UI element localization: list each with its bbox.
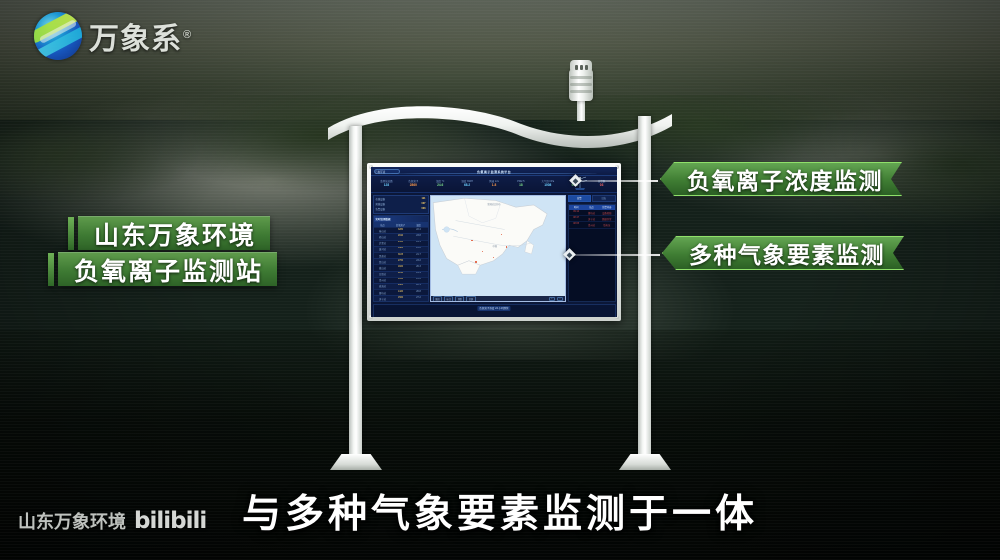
map-tool-measure-button[interactable]: 测距 (455, 296, 464, 303)
support-post-left (349, 126, 362, 456)
metric-value: 68.2 (454, 183, 481, 188)
map-region-label: 中国 (493, 244, 497, 248)
map-tool-annotate-button[interactable]: 标注 (444, 296, 453, 303)
map-title: 全国站点分布 (487, 202, 500, 206)
table-cell: 2760 (392, 259, 410, 264)
metric-card[interactable]: 温度 ℃ 24.6 (427, 180, 454, 188)
map-tool-layers-button[interactable]: 图层 (433, 296, 442, 303)
table-cell: 2980 (392, 284, 410, 289)
map-landmass (431, 196, 565, 283)
table-row[interactable]: 青州站165025.6 (374, 277, 428, 283)
table-body: 泰山站328022.4崂山站291023.8沂蒙站245024.1黄河站1980… (374, 227, 428, 301)
leader-line-1 (580, 180, 658, 182)
callout-left-1: 山东万象环境 (78, 216, 270, 250)
table-cell: 1980 (392, 247, 410, 252)
metric-value: 1008 (534, 183, 561, 188)
brand-logo-text: 万象系® (89, 14, 192, 58)
table-cell: 昆嵛站 (374, 253, 392, 258)
table-header-row: 站点 负氧离子 温度 (374, 222, 428, 227)
table-cell: 2240 (392, 272, 410, 277)
table-cell: 23.2 (410, 259, 428, 264)
metric-value: 1.8 (481, 183, 508, 188)
table-cell: 26.8 (410, 290, 428, 295)
alarm-row[interactable]: 08:05青州站低电压 (569, 222, 615, 228)
summary-value: 121 (422, 197, 426, 201)
callout-left-1-text: 山东万象环境 (94, 216, 256, 252)
table-cell: 23.8 (410, 234, 428, 239)
summary-row: 告警设备 003 (376, 207, 426, 211)
left-panel: 在线设备 121 离线设备 007 告警设备 003 实时监 (373, 195, 429, 303)
callout-right-2-text: 多种气象要素监测 (689, 236, 885, 270)
arch-beam (320, 100, 680, 160)
chart-title: 负氧离子浓度 24 小时趋势 (477, 306, 510, 311)
table-cell: 1650 (392, 278, 410, 283)
column-header: 负氧离子 (392, 222, 410, 227)
map-toolbar[interactable]: 图层 标注 测距 全屏 + − (431, 296, 565, 301)
trend-chart[interactable]: 负氧离子浓度 24 小时趋势 0001020304050607080910111… (373, 304, 616, 317)
bilibili-logo: bilibili (134, 508, 206, 534)
table-row[interactable]: 济宁站156027.2 (374, 295, 428, 301)
callout-left-2-text: 负氧离子监测站 (74, 252, 263, 288)
dashboard-header: 万象环境 负氧离子监测系统平台 (371, 167, 617, 176)
table-row[interactable]: 泰山站328022.4 (374, 227, 428, 233)
realtime-data-table[interactable]: 实时监测数据 站点 负氧离子 温度 泰山站328022.4崂山站291023.8… (373, 215, 429, 302)
summary-key: 在线设备 (376, 197, 386, 201)
table-cell: 蒙山站 (374, 259, 392, 264)
support-post-right (638, 116, 651, 456)
table-cell: 3280 (392, 228, 410, 233)
table-row[interactable]: 崂山站291023.8 (374, 233, 428, 239)
watermark-channel: 山东万象环境 (18, 508, 126, 534)
metric-value: 2860 (400, 183, 427, 188)
map-zoom-in-button[interactable]: + (549, 297, 555, 302)
table-row[interactable]: 微山站182026.3 (374, 264, 428, 270)
table-cell: 24.1 (410, 241, 428, 246)
table-cell: 3105 (392, 253, 410, 258)
alarm-cell: 08:05 (569, 222, 584, 227)
leader-line-2 (574, 254, 660, 256)
registered-trademark-icon: ® (183, 29, 192, 41)
table-cell: 1560 (392, 296, 410, 301)
dashboard-title: 负氧离子监测系统平台 (477, 169, 511, 174)
map-zoom-out-button[interactable]: − (557, 297, 563, 302)
monitoring-dashboard[interactable]: 万象环境 负氧离子监测系统平台 监测站总数 128 负氧离子 2860 温度 ℃… (371, 167, 617, 317)
tab-logs[interactable]: 日志 (592, 195, 616, 203)
alarm-cell: 08:47 (569, 216, 584, 221)
column-header: 站点 (374, 222, 392, 227)
summary-key: 离线设备 (376, 202, 386, 206)
alarm-cell: 设备离线 (599, 210, 614, 215)
sensor-vent (575, 65, 578, 70)
tab-alarms[interactable]: 告警 (568, 195, 592, 203)
summary-card: 在线设备 121 离线设备 007 告警设备 003 (373, 195, 429, 214)
center-panel: 中国 全国站点分布 图层 标注 测距 全屏 (430, 195, 566, 303)
sensor-rib (570, 83, 592, 86)
table-row[interactable]: 沂蒙站245024.1 (374, 240, 428, 246)
dashboard-body: 在线设备 121 离线设备 007 告警设备 003 实时监 (371, 193, 617, 304)
metric-card[interactable]: 风速 m/s 1.8 (481, 180, 508, 188)
table-cell: 威海站 (374, 284, 392, 289)
map-station-marker[interactable] (501, 234, 502, 235)
table-cell: 济宁站 (374, 296, 392, 301)
map-tool-fullscreen-button[interactable]: 全屏 (466, 296, 475, 303)
column-header: 温度 (410, 222, 428, 227)
video-frame: 万象系® (0, 0, 1000, 560)
right-panel: 告警 日志 时间 站点 告警内容 09:12潍坊站设备离线08:47济宁站数据异… (568, 195, 616, 303)
table-cell: 青州站 (374, 278, 392, 283)
weather-sensor (566, 57, 596, 115)
table-cell: 2910 (392, 234, 410, 239)
alarm-tabs[interactable]: 告警 日志 (568, 195, 616, 203)
metric-card[interactable]: 监测站总数 128 (373, 180, 400, 188)
brand-name: 万象系 (89, 23, 182, 56)
table-cell: 22.1 (410, 284, 428, 289)
chart-plot-area: 0001020304050607080910111213141516171819… (374, 311, 615, 317)
post-base-right (619, 454, 671, 470)
alarm-cell: 济宁站 (584, 216, 599, 221)
table-cell: 25.0 (410, 247, 428, 252)
summary-row: 离线设备 007 (376, 202, 426, 206)
map-station-marker[interactable] (475, 261, 476, 262)
watermark: 山东万象环境 bilibili (18, 508, 206, 534)
table-cell: 日照站 (374, 272, 392, 277)
table-cell: 26.3 (410, 265, 428, 270)
table-cell: 22.4 (410, 228, 428, 233)
table-cell: 27.2 (410, 296, 428, 301)
table-row[interactable]: 潍坊站142026.8 (374, 289, 428, 295)
alarm-cell: 09:12 (569, 210, 584, 215)
sensor-vent (580, 65, 583, 70)
table-cell: 潍坊站 (374, 290, 392, 295)
sensor-cap (570, 60, 592, 71)
summary-key: 告警设备 (376, 207, 386, 211)
alarm-cell: 数据异常 (599, 216, 614, 221)
table-cell: 24.9 (410, 272, 428, 277)
sensor-body (569, 69, 593, 101)
summary-value: 007 (422, 202, 426, 206)
table-row[interactable]: 威海站298022.1 (374, 283, 428, 289)
station-map[interactable]: 中国 全国站点分布 图层 标注 测距 全屏 (430, 195, 566, 303)
callout-right-1-text: 负氧离子浓度监测 (687, 162, 883, 196)
metric-card[interactable]: 负氧离子 2860 (400, 180, 427, 188)
table-cell: 微山站 (374, 265, 392, 270)
metric-value: 03 (588, 183, 615, 188)
globe-highlight (39, 19, 78, 44)
alarm-cell: 低电压 (599, 222, 614, 227)
post-base-left (330, 454, 382, 470)
table-cell: 1420 (392, 290, 410, 295)
table-cell: 21.7 (410, 253, 428, 258)
table-cell: 2450 (392, 241, 410, 246)
table-cell: 黄河站 (374, 247, 392, 252)
table-row[interactable]: 黄河站198025.0 (374, 246, 428, 252)
display-screen-frame: 万象环境 负氧离子监测系统平台 监测站总数 128 负氧离子 2860 温度 ℃… (367, 163, 621, 321)
callout-right-2: 多种气象要素监测 (662, 236, 904, 270)
sensor-rib (570, 90, 592, 93)
table-cell: 25.6 (410, 278, 428, 283)
callout-right-1: 负氧离子浓度监测 (660, 162, 902, 196)
table-cell: 1820 (392, 265, 410, 270)
table-row[interactable]: 昆嵛站310521.7 (374, 252, 428, 258)
alarm-body: 09:12潍坊站设备离线08:47济宁站数据异常08:05青州站低电压 (569, 210, 615, 229)
table-cell: 泰山站 (374, 228, 392, 233)
table-row[interactable]: 蒙山站276023.2 (374, 258, 428, 264)
metric-value: 24.6 (427, 183, 454, 188)
callout-left-2: 负氧离子监测站 (58, 252, 277, 286)
metric-card[interactable]: 湿度 %RH 68.2 (454, 180, 481, 188)
brand-logo: 万象系® (34, 12, 192, 60)
summary-value: 003 (422, 207, 426, 211)
sensor-rib (570, 76, 592, 79)
globe-icon (34, 12, 82, 60)
metric-value: 18 (507, 183, 534, 188)
metric-card[interactable]: 大气压 hPa 1008 (534, 180, 561, 188)
table-row[interactable]: 日照站224024.9 (374, 271, 428, 277)
alarm-cell: 青州站 (584, 222, 599, 227)
summary-row: 在线设备 121 (376, 197, 426, 201)
metric-value: 128 (373, 183, 400, 188)
metric-card[interactable]: PM2.5 18 (507, 180, 534, 188)
alarm-cell: 潍坊站 (584, 210, 599, 215)
sensor-vent (585, 65, 588, 70)
table-cell: 崂山站 (374, 234, 392, 239)
table-cell: 沂蒙站 (374, 241, 392, 246)
